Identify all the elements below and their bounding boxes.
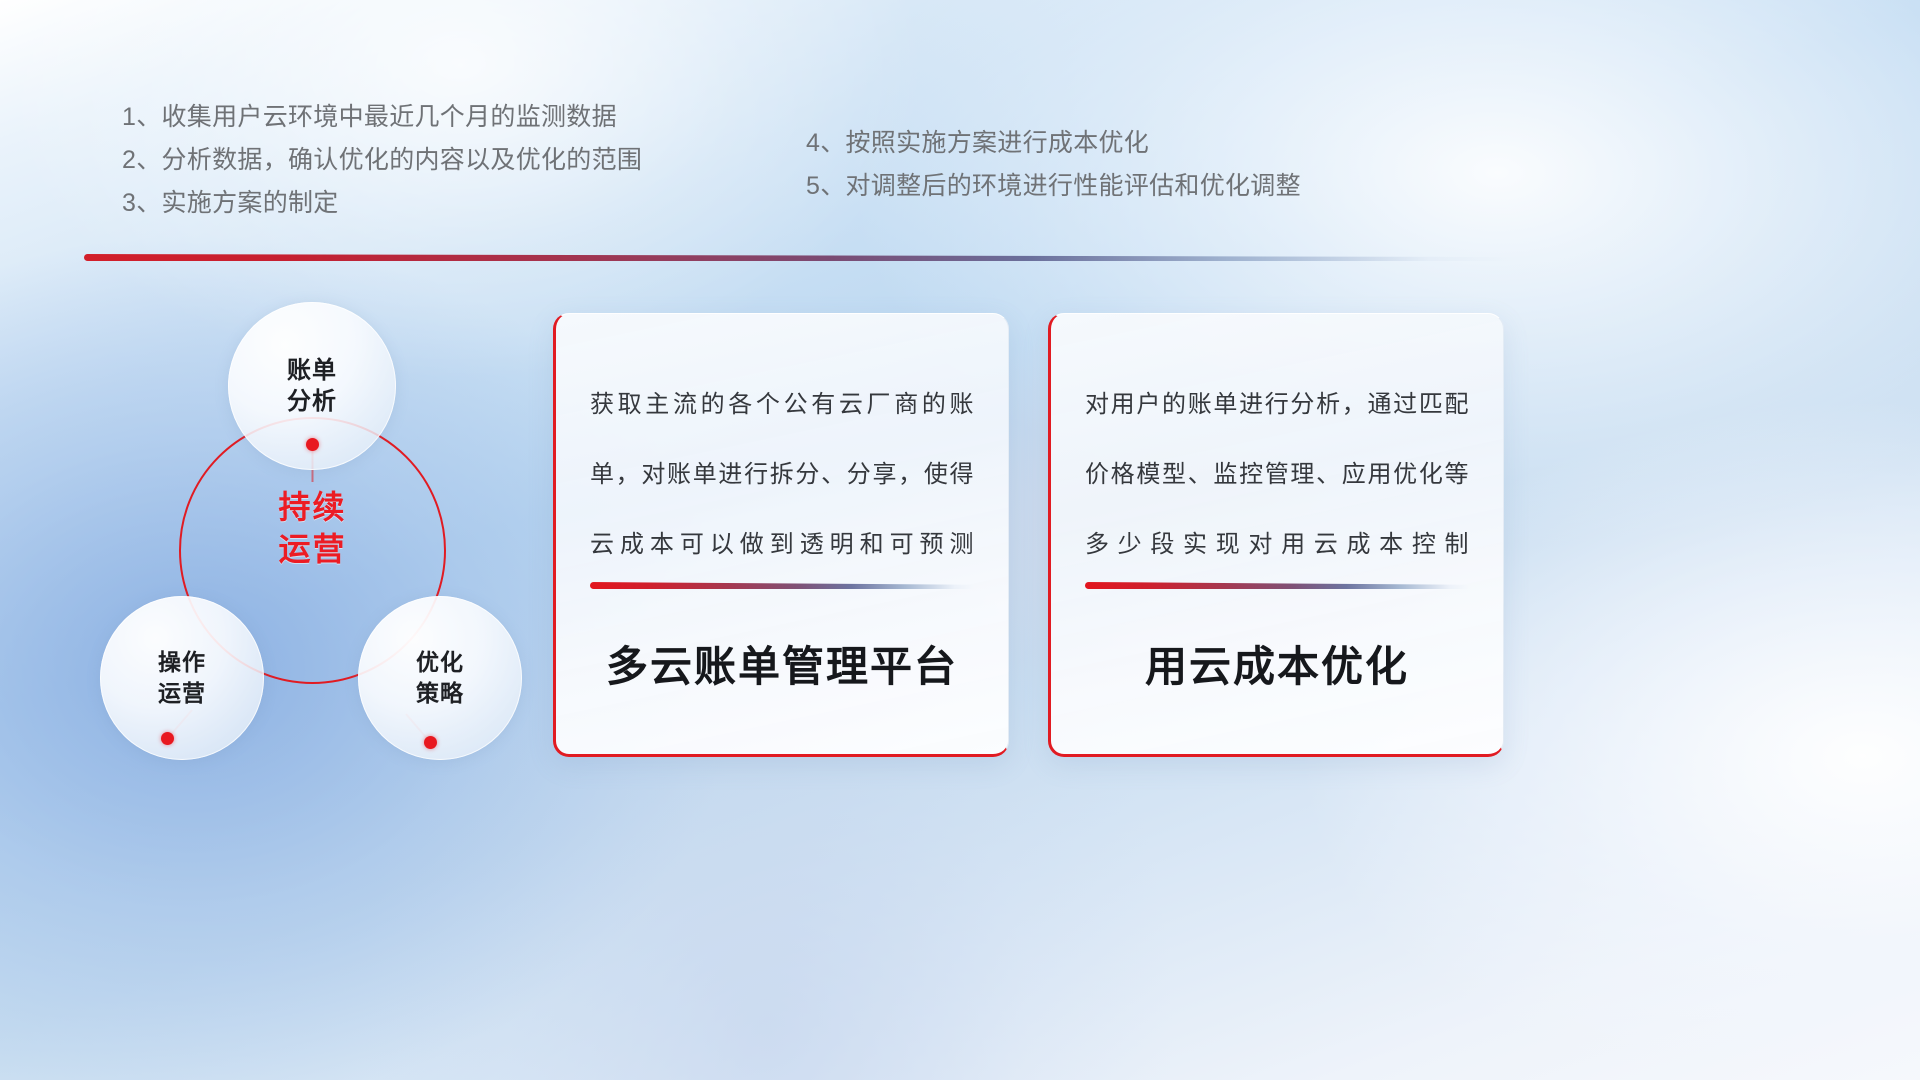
card-1-body: 获取主流的各个公有云厂商的账单，对账单进行拆分、分享，使得云成本可以做到透明和可… (590, 370, 974, 580)
card-1-title: 多云账单管理平台 (590, 589, 974, 754)
bubble-ops-operation[interactable]: 操作 运营 (100, 596, 264, 760)
node-dot-top (306, 438, 319, 451)
card-cloud-cost-optimization[interactable]: 对用户的账单进行分析，通过匹配价格模型、监控管理、应用优化等多少段实现对用云成本… (1048, 313, 1504, 757)
bubble-optimize-policy-label: 优化 策略 (416, 647, 464, 709)
bubble-bill-analysis-label: 账单 分析 (287, 355, 337, 417)
center-label-line1: 持续 (179, 486, 446, 528)
steps-left-column: 1、收集用户云环境中最近几个月的监测数据 2、分析数据，确认优化的内容以及优化的… (122, 96, 822, 225)
card-2-title: 用云成本优化 (1085, 589, 1469, 754)
bubble-label-line2: 分析 (287, 388, 337, 415)
step-item-5: 5、对调整后的环境进行性能评估和优化调整 (806, 165, 1526, 208)
card-1-divider (590, 582, 974, 589)
card-multi-cloud-bill-platform[interactable]: 获取主流的各个公有云厂商的账单，对账单进行拆分、分享，使得云成本可以做到透明和可… (553, 313, 1009, 757)
bubble-label-line1: 优化 (416, 649, 464, 675)
card-2-body: 对用户的账单进行分析，通过匹配价格模型、监控管理、应用优化等多少段实现对用云成本… (1085, 370, 1469, 580)
step-item-2: 2、分析数据，确认优化的内容以及优化的范围 (122, 139, 822, 182)
slide-canvas: 1、收集用户云环境中最近几个月的监测数据 2、分析数据，确认优化的内容以及优化的… (0, 0, 1920, 1080)
steps-right-column: 4、按照实施方案进行成本优化 5、对调整后的环境进行性能评估和优化调整 (806, 122, 1526, 208)
bubble-label-line2: 策略 (416, 680, 464, 706)
bubble-label-line1: 操作 (158, 649, 206, 675)
node-dot-bottom-left (161, 732, 174, 745)
continuous-operation-diagram: 持续 运营 账单 分析 操作 运营 优化 策略 (84, 286, 554, 766)
step-item-1: 1、收集用户云环境中最近几个月的监测数据 (122, 96, 822, 139)
node-dot-bottom-right (424, 736, 437, 749)
bubble-label-line2: 运营 (158, 680, 206, 706)
diagram-center-label: 持续 运营 (179, 486, 446, 570)
bubble-label-line1: 账单 (287, 357, 337, 384)
bubble-ops-operation-label: 操作 运营 (158, 647, 206, 709)
step-item-4: 4、按照实施方案进行成本优化 (806, 122, 1526, 165)
center-label-line2: 运营 (179, 528, 446, 570)
card-2-divider (1085, 582, 1469, 589)
step-item-3: 3、实施方案的制定 (122, 182, 822, 225)
bubble-optimize-policy[interactable]: 优化 策略 (358, 596, 522, 760)
